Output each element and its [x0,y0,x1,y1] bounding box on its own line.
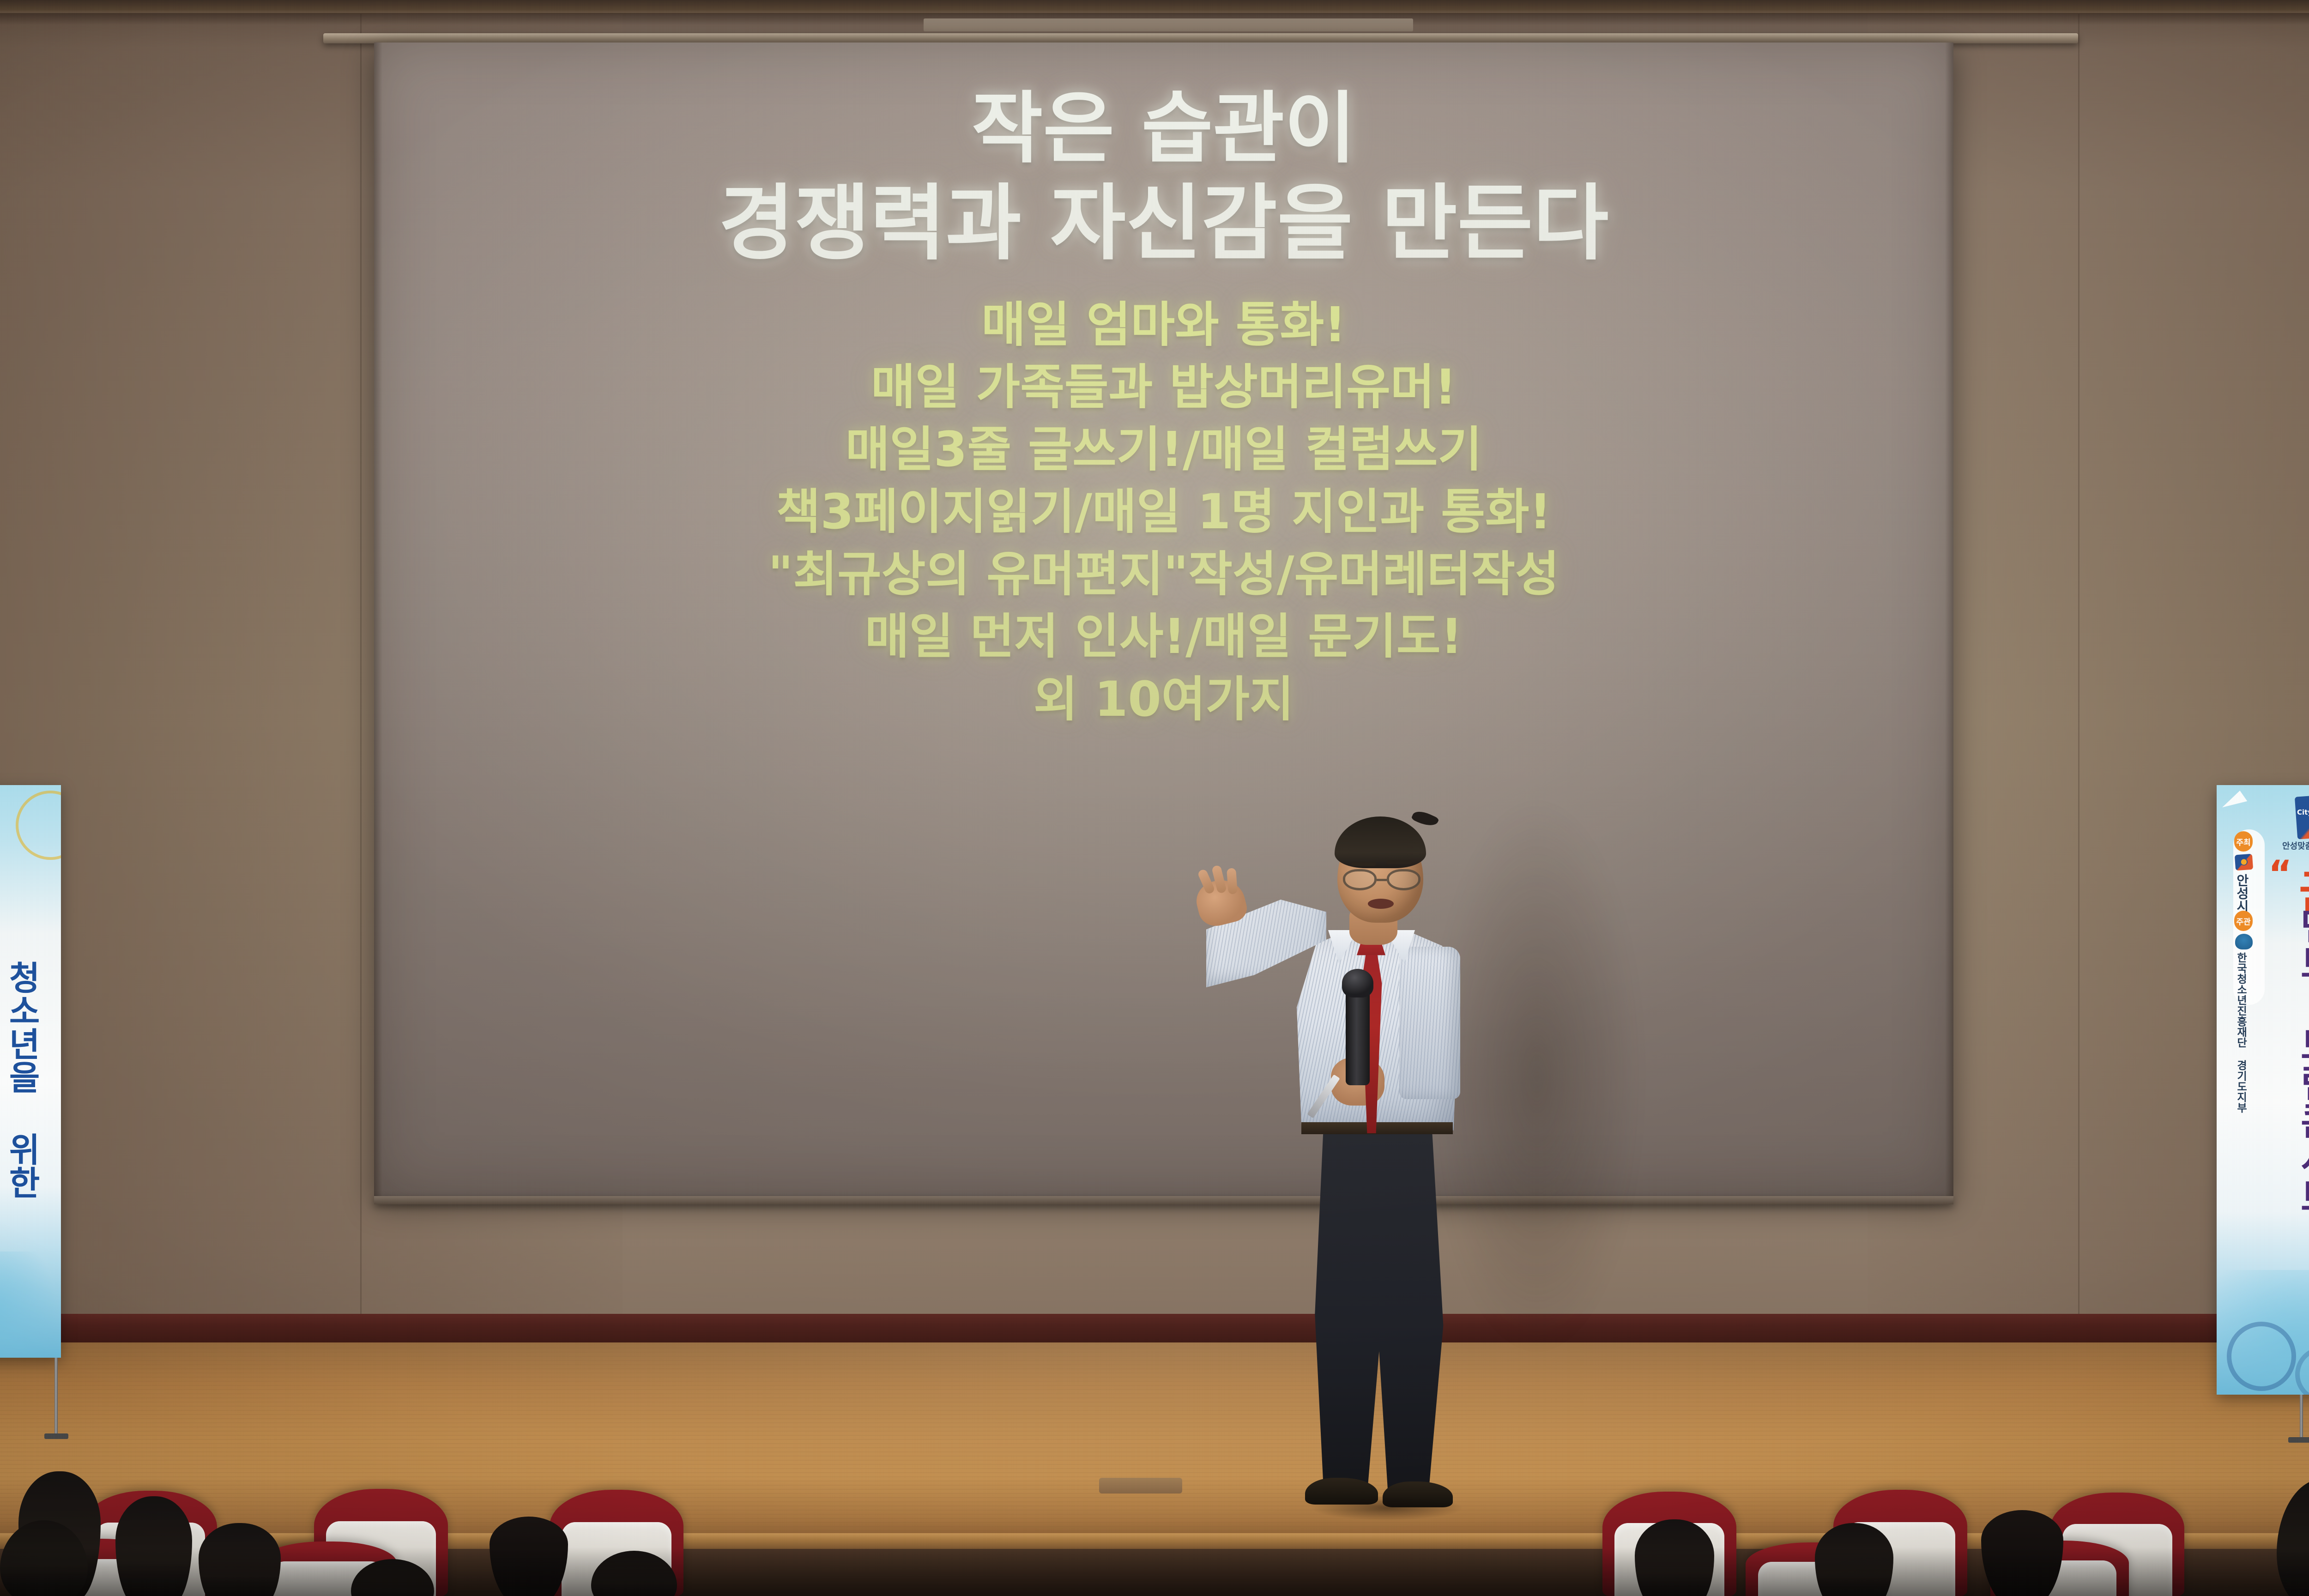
left-banner-vertical-text: 청소년을 위한 [4,961,39,1199]
screen-roller-housing [924,18,1413,31]
projection-screen: 작은 습관이 경쟁력과 자신감을 만든다 매일 엄마와 통화! 매일 가족들과 … [374,42,1953,1197]
organizer-label-pill: 주관 [2234,911,2253,931]
lecture-hall-photo: 작은 습관이 경쟁력과 자신감을 만든다 매일 엄마와 통화! 매일 가족들과 … [0,0,2309,1596]
right-banner-logo-subtitle-ko: 안성맞춤도시 [2282,840,2309,852]
speaker-lowered-arm [1399,947,1460,1099]
organizer-label-text: 주관 [2236,915,2250,927]
speaker-hair-tuft [1411,808,1439,830]
organizer-logo-icon [2235,934,2253,949]
paper-plane-icon [2219,790,2248,808]
right-banner-quote-open: “ [2268,853,2292,895]
speaker-figure [1196,799,1593,1524]
slide-body-line-5: "최규상의 유머편지"작성/유머레터작성 [768,543,1559,605]
host-logo-icon [2235,854,2253,871]
left-banner-foot [44,1433,68,1439]
anseong-city-logo-icon [2295,793,2309,839]
organizer-name-text: 한국청소년진흥재단 경기도지부 [2235,952,2246,1113]
speaker-mouth [1368,899,1394,909]
right-banner-pole [2300,1395,2303,1441]
slide-title-line-2: 경쟁력과 자신감을 만든다 [719,177,1608,269]
slide-title-line-1: 작은 습관이 [719,85,1608,172]
slide-body-line-1: 매일 엄마와 통화! [768,294,1559,356]
microphone-head-icon [1342,969,1373,997]
screen-roller-bar [323,33,2078,43]
banner-sun-swirl-icon [16,791,61,860]
slide-body-line-7: 외 10여가지 [768,668,1559,731]
slide-content: 작은 습관이 경쟁력과 자신감을 만든다 매일 엄마와 통화! 매일 가족들과 … [374,42,1953,1197]
host-name-text: 안성시 [2235,874,2249,913]
eyeglass-lens-left [1343,869,1377,890]
stage-wall-base-band [0,1314,2309,1342]
audience-area [0,1469,2309,1596]
speaker-finger [1227,868,1238,894]
banner-wave-graphic [0,1251,61,1358]
speaker-eyebrow-left [1351,862,1376,866]
audience-shadow-gradient [0,1547,2309,1596]
ceiling-band [0,0,2309,14]
banner-spiral-icon [2227,1322,2296,1391]
eyeglass-lens-right [1387,869,1420,890]
slide-title: 작은 습관이 경쟁력과 자신감을 만든다 [719,85,1608,270]
slide-body-line-3: 매일3줄 글쓰기!/매일 컬럼쓰기 [768,418,1559,481]
left-event-banner: 안성 ” 꿈 멘토 드림콘서트 청소년을 위한 [0,785,61,1358]
right-banner-title-purple: 멘토 드림콘서트 [2294,906,2309,1215]
host-label-text: 주최 [2236,836,2250,847]
screen-bottom-weight-bar [374,1196,1953,1204]
left-banner-pole [54,1358,58,1436]
eyeglasses-icon [1343,869,1420,890]
slide-body-line-2: 매일 가족들과 밥상머리유머! [768,356,1559,418]
host-label-pill: 주최 [2234,831,2253,852]
right-banner-foot [2288,1437,2309,1443]
speaker-trousers [1303,1122,1449,1492]
speaker-belt [1301,1122,1453,1134]
right-event-banner: City of Anseong 안성맞춤도시 안성 “ 꿈 ” 멘토 드림콘서트… [2217,785,2309,1395]
eyeglass-bridge [1377,879,1387,881]
right-banner-logo-subtitle-en: City of Anseong [2297,808,2309,816]
slide-body: 매일 엄마와 통화! 매일 가족들과 밥상머리유머! 매일3줄 글쓰기!/매일 … [768,294,1559,731]
speaker-hair [1335,816,1426,868]
slide-body-line-6: 매일 먼저 인사!/매일 문기도! [768,605,1559,668]
slide-body-line-4: 책3페이지읽기/매일 1명 지인과 통화! [768,481,1559,543]
speaker-eyebrow-right [1386,860,1412,864]
